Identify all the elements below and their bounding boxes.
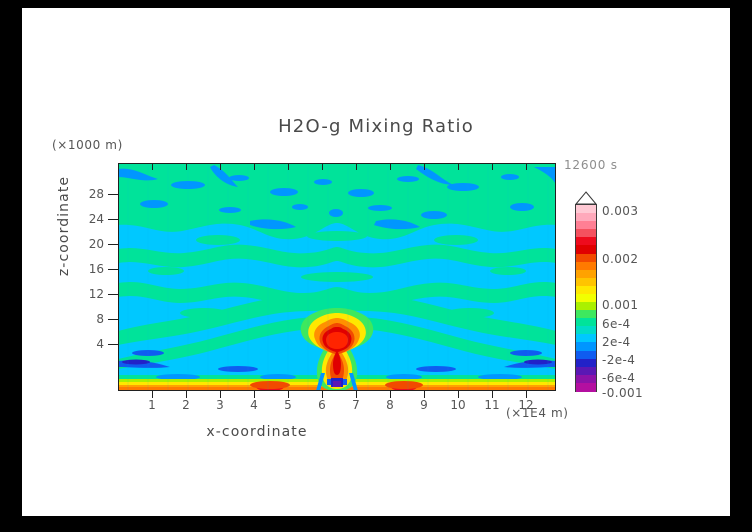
x-tick-top-8	[390, 164, 391, 170]
x-tick-top-12	[526, 164, 527, 170]
y-tick-label-16: 16	[70, 262, 104, 276]
x-tick-top-5	[288, 164, 289, 170]
x-tick-label-4: 4	[243, 398, 265, 412]
x-tick-label-1: 1	[141, 398, 163, 412]
colorbar-band-22	[576, 383, 596, 392]
x-tick-6	[322, 391, 323, 398]
colorbar-label-2: 0.001	[602, 298, 638, 312]
y-tick-16	[108, 269, 118, 270]
x-tick-4	[254, 391, 255, 398]
colorbar	[575, 204, 597, 392]
x-tick-7	[356, 391, 357, 398]
y-tick-label-28: 28	[70, 187, 104, 201]
x-tick-label-7: 7	[345, 398, 367, 412]
x-tick-label-6: 6	[311, 398, 333, 412]
x-tick-top-4	[254, 164, 255, 170]
y-tick-20	[108, 244, 118, 245]
x-tick-label-5: 5	[277, 398, 299, 412]
y-tick-label-12: 12	[70, 287, 104, 301]
x-tick-top-2	[186, 164, 187, 170]
x-tick-10	[458, 391, 459, 398]
x-tick-3	[220, 391, 221, 398]
x-tick-label-8: 8	[379, 398, 401, 412]
x-axis-label: x-coordinate	[22, 424, 492, 440]
colorbar-label-6: -6e-4	[602, 371, 635, 385]
colorbar-label-5: -2e-4	[602, 353, 635, 367]
x-tick-9	[424, 391, 425, 398]
colorbar-label-3: 6e-4	[602, 317, 631, 331]
y-tick-label-20: 20	[70, 237, 104, 251]
colorbar-label-0: 0.003	[602, 204, 638, 218]
colorbar-top-arrow	[575, 191, 597, 205]
time-annotation: 12600 s	[564, 158, 618, 172]
image-frame: H2O-g Mixing Ratio (×1000 m) 12600 s	[0, 0, 752, 532]
x-tick-5	[288, 391, 289, 398]
x-tick-12	[526, 391, 527, 398]
y-axis-label: z-coordinate	[56, 146, 72, 306]
x-tick-top-7	[356, 164, 357, 170]
x-tick-top-10	[458, 164, 459, 170]
x-tick-top-1	[152, 164, 153, 170]
y-tick-8	[108, 319, 118, 320]
x-tick-top-11	[492, 164, 493, 170]
x-axis-unit: (×1E4 m)	[506, 406, 569, 420]
y-tick-12	[108, 294, 118, 295]
contour-paths	[118, 163, 556, 391]
colorbar-label-7: -0.001	[602, 386, 643, 400]
y-tick-label-24: 24	[70, 212, 104, 226]
x-tick-top-3	[220, 164, 221, 170]
x-tick-label-10: 10	[447, 398, 469, 412]
y-tick-label-4: 4	[70, 337, 104, 351]
contour-field	[118, 163, 556, 391]
chart-title: H2O-g Mixing Ratio	[22, 116, 730, 137]
x-tick-8	[390, 391, 391, 398]
colorbar-label-4: 2e-4	[602, 335, 631, 349]
y-tick-label-8: 8	[70, 312, 104, 326]
x-tick-label-3: 3	[209, 398, 231, 412]
x-tick-label-11: 11	[481, 398, 503, 412]
x-tick-2	[186, 391, 187, 398]
x-tick-top-6	[322, 164, 323, 170]
plot-canvas: H2O-g Mixing Ratio (×1000 m) 12600 s	[22, 8, 730, 516]
x-tick-1	[152, 391, 153, 398]
y-tick-24	[108, 219, 118, 220]
colorbar-label-1: 0.002	[602, 252, 638, 266]
y-tick-28	[108, 194, 118, 195]
x-tick-top-9	[424, 164, 425, 170]
x-tick-label-2: 2	[175, 398, 197, 412]
x-tick-label-9: 9	[413, 398, 435, 412]
x-tick-11	[492, 391, 493, 398]
y-tick-4	[108, 344, 118, 345]
